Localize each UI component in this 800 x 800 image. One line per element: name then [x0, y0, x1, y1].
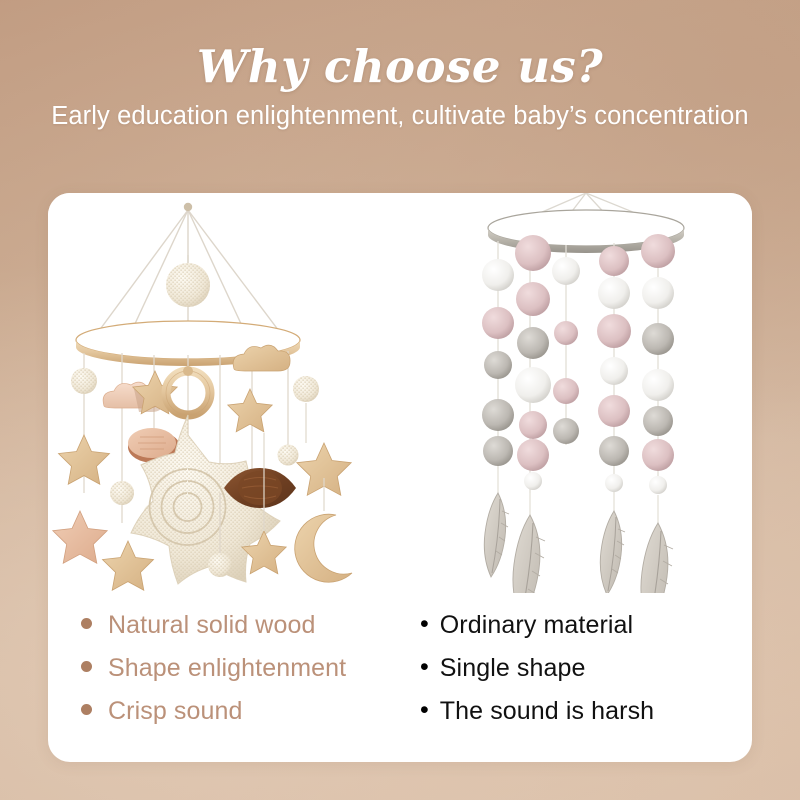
list-item: Crisp sound [81, 693, 411, 730]
product-image-ordinary-mobile [418, 193, 752, 593]
list-item: Shape enlightenment [81, 650, 411, 687]
list-item: • Ordinary material [420, 607, 752, 644]
hanger-knot [184, 203, 192, 211]
bullet-dot-icon: • [420, 649, 429, 686]
comparison-card: Natural solid wood Shape enlightenment C… [48, 193, 752, 762]
list-item: • Single shape [420, 650, 752, 687]
bullet-dot-icon [81, 704, 92, 715]
list-item: • The sound is harsh [420, 693, 752, 730]
page-subtitle: Early education enlightenment, cultivate… [51, 100, 748, 133]
felt-ball-strand-4 [597, 246, 631, 492]
feature-list-natural-wood: Natural solid wood Shape enlightenment C… [48, 591, 411, 762]
header: Why choose us? Early education enlighten… [0, 0, 800, 190]
feature-label: Single shape [440, 650, 586, 687]
feature-label: Shape enlightenment [108, 650, 346, 687]
crochet-ball-right-upper [293, 376, 319, 402]
feature-label: Natural solid wood [108, 607, 315, 644]
crochet-ball-left-upper [71, 368, 97, 394]
feature-label: The sound is harsh [440, 693, 654, 730]
feature-label: Ordinary material [440, 607, 633, 644]
page-title: Why choose us? [197, 44, 603, 89]
natural-wood-mobile-illustration [48, 193, 418, 593]
product-image-natural-wood-mobile [48, 193, 418, 593]
crochet-ball-right-mid [278, 445, 299, 466]
bullet-dot-icon [81, 618, 92, 629]
feature-lists: Natural solid wood Shape enlightenment C… [48, 591, 752, 762]
feature-label: Crisp sound [108, 693, 243, 730]
bullet-dot-icon: • [420, 692, 429, 729]
feature-list-ordinary: • Ordinary material • Single shape • The… [411, 591, 752, 762]
product-images [48, 193, 752, 593]
bullet-dot-icon: • [420, 606, 429, 643]
list-item: Natural solid wood [81, 607, 411, 644]
bullet-dot-icon [81, 661, 92, 672]
ordinary-mobile-illustration [418, 193, 752, 593]
crochet-ball-left-lower [110, 481, 134, 505]
